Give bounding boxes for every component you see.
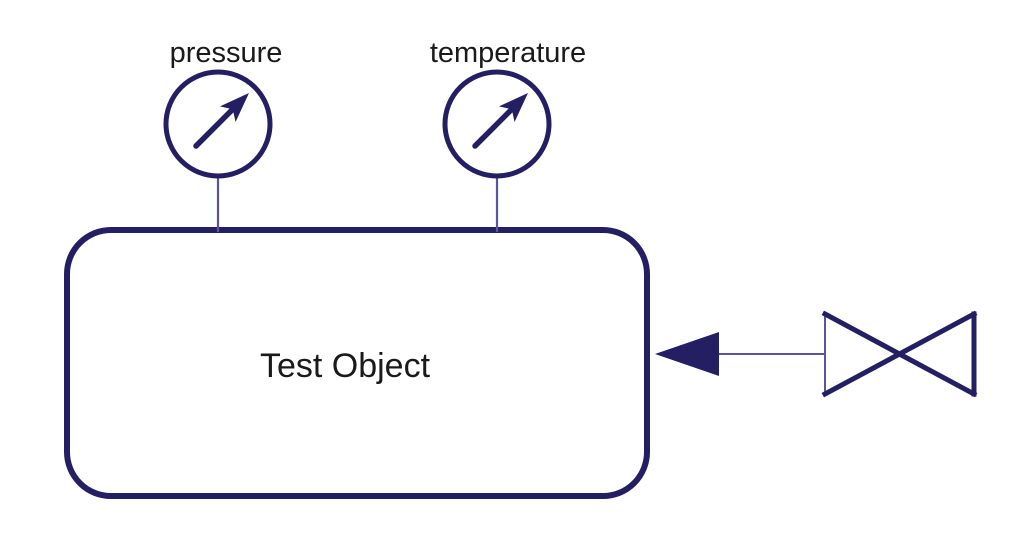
inlet-valve[interactable] [825, 314, 974, 394]
arrow-left-icon [655, 332, 719, 376]
pressure-gauge[interactable]: pressure [166, 37, 282, 232]
temperature-gauge[interactable]: temperature [430, 37, 586, 232]
test-object-label: Test Object [260, 347, 431, 385]
diagram-svg: Test Object pressure temperature [0, 0, 1024, 554]
pressure-gauge-label: pressure [170, 37, 283, 69]
test-object-vessel[interactable]: Test Object [67, 230, 647, 496]
temperature-gauge-label: temperature [430, 37, 586, 69]
diagram-canvas: Test Object pressure temperature [0, 0, 1024, 554]
inlet-flow-arrow[interactable] [655, 332, 825, 376]
